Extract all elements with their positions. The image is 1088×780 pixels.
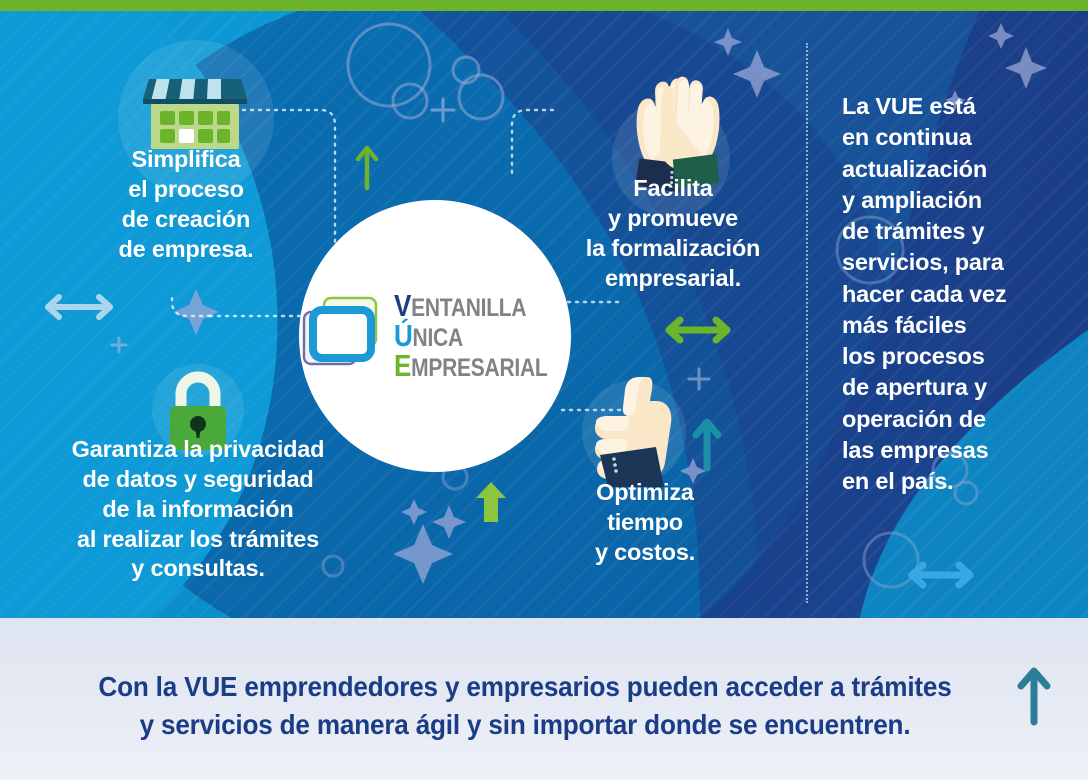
feature-line: de empresa. bbox=[60, 235, 312, 265]
vue-logo: VENTANILLA ÚNICA EMPRESARIAL bbox=[299, 200, 571, 472]
right-panel-line: y ampliación bbox=[842, 185, 1062, 216]
bottom-banner-line-1: Con la VUE emprendedores y empresarios p… bbox=[83, 668, 967, 706]
top-accent-bar bbox=[0, 0, 1088, 11]
right-panel-line: La VUE está bbox=[842, 91, 1062, 122]
storefront-icon bbox=[143, 73, 247, 151]
right-panel-line: actualización bbox=[842, 154, 1062, 185]
feature-text-optimiza: Optimiza tiempo y costos. bbox=[545, 478, 745, 568]
feature-line: la formalización bbox=[540, 234, 806, 264]
right-panel-line: operación de bbox=[842, 404, 1062, 435]
logo-rest-empresarial: MPRESARIAL bbox=[411, 354, 547, 382]
logo-rest-ventanilla: ENTANILLA bbox=[411, 294, 526, 322]
feature-line: de creación bbox=[60, 205, 312, 235]
feature-text-facilita: Facilita y promueve la formalización emp… bbox=[540, 174, 806, 293]
feature-line: y promueve bbox=[540, 204, 806, 234]
bottom-banner-line-2: y servicios de manera ágil y sin importa… bbox=[83, 706, 967, 744]
logo-line-ventanilla: VENTANILLA bbox=[394, 291, 547, 321]
feature-line: de datos y seguridad bbox=[28, 465, 368, 495]
feature-line: al realizar los trámites bbox=[28, 525, 368, 555]
feature-line: Garantiza la privacidad bbox=[28, 435, 368, 465]
feature-line: Simplifica bbox=[60, 145, 312, 175]
infographic-root: VENTANILLA ÚNICA EMPRESARIAL Simplifica … bbox=[0, 0, 1088, 780]
arrow-up-icon bbox=[353, 142, 381, 192]
right-panel-line: en el país. bbox=[842, 466, 1062, 497]
logo-line-empresarial: EMPRESARIAL bbox=[394, 351, 547, 381]
arrow-left-right-icon bbox=[905, 559, 977, 591]
right-panel-text: La VUE está en continua actualización y … bbox=[842, 91, 1062, 497]
feature-line: Facilita bbox=[540, 174, 806, 204]
feature-line: empresarial. bbox=[540, 264, 806, 294]
vue-logo-mark bbox=[294, 290, 386, 382]
feature-line: el proceso bbox=[60, 175, 312, 205]
right-panel-line: en continua bbox=[842, 122, 1062, 153]
thumbs-up-icon bbox=[584, 369, 694, 487]
feature-line: tiempo bbox=[545, 508, 745, 538]
logo-cap-e: E bbox=[394, 348, 411, 383]
right-panel-line: de trámites y bbox=[842, 216, 1062, 247]
vertical-dotted-divider bbox=[806, 43, 808, 603]
right-panel-line: los procesos bbox=[842, 341, 1062, 372]
logo-line-unica: ÚNICA bbox=[394, 321, 547, 351]
right-panel-line: servicios, para bbox=[842, 247, 1062, 278]
feature-text-simplifica: Simplifica el proceso de creación de emp… bbox=[60, 145, 312, 264]
feature-line: de la información bbox=[28, 495, 368, 525]
arrow-up-icon bbox=[692, 414, 722, 472]
right-panel-line: hacer cada vez bbox=[842, 279, 1062, 310]
bottom-banner-text: Con la VUE emprendedores y empresarios p… bbox=[83, 668, 967, 744]
arrow-left-right-icon bbox=[42, 290, 116, 324]
right-panel-line: las empresas bbox=[842, 435, 1062, 466]
arrow-left-right-icon bbox=[662, 313, 734, 347]
vue-logo-text: VENTANILLA ÚNICA EMPRESARIAL bbox=[394, 291, 577, 380]
hero-area: VENTANILLA ÚNICA EMPRESARIAL Simplifica … bbox=[0, 11, 1088, 618]
feature-line: y consultas. bbox=[28, 554, 368, 584]
feature-line: Optimiza bbox=[545, 478, 745, 508]
logo-rest-unica: NICA bbox=[412, 324, 462, 352]
feature-text-garantiza: Garantiza la privacidad de datos y segur… bbox=[28, 435, 368, 584]
feature-line: y costos. bbox=[545, 538, 745, 568]
arrow-up-icon bbox=[474, 478, 508, 526]
arrow-up-icon bbox=[1016, 664, 1052, 726]
right-panel-line: más fáciles bbox=[842, 310, 1062, 341]
bottom-banner: Con la VUE emprendedores y empresarios p… bbox=[0, 618, 1088, 780]
right-panel-line: de apertura y bbox=[842, 372, 1062, 403]
